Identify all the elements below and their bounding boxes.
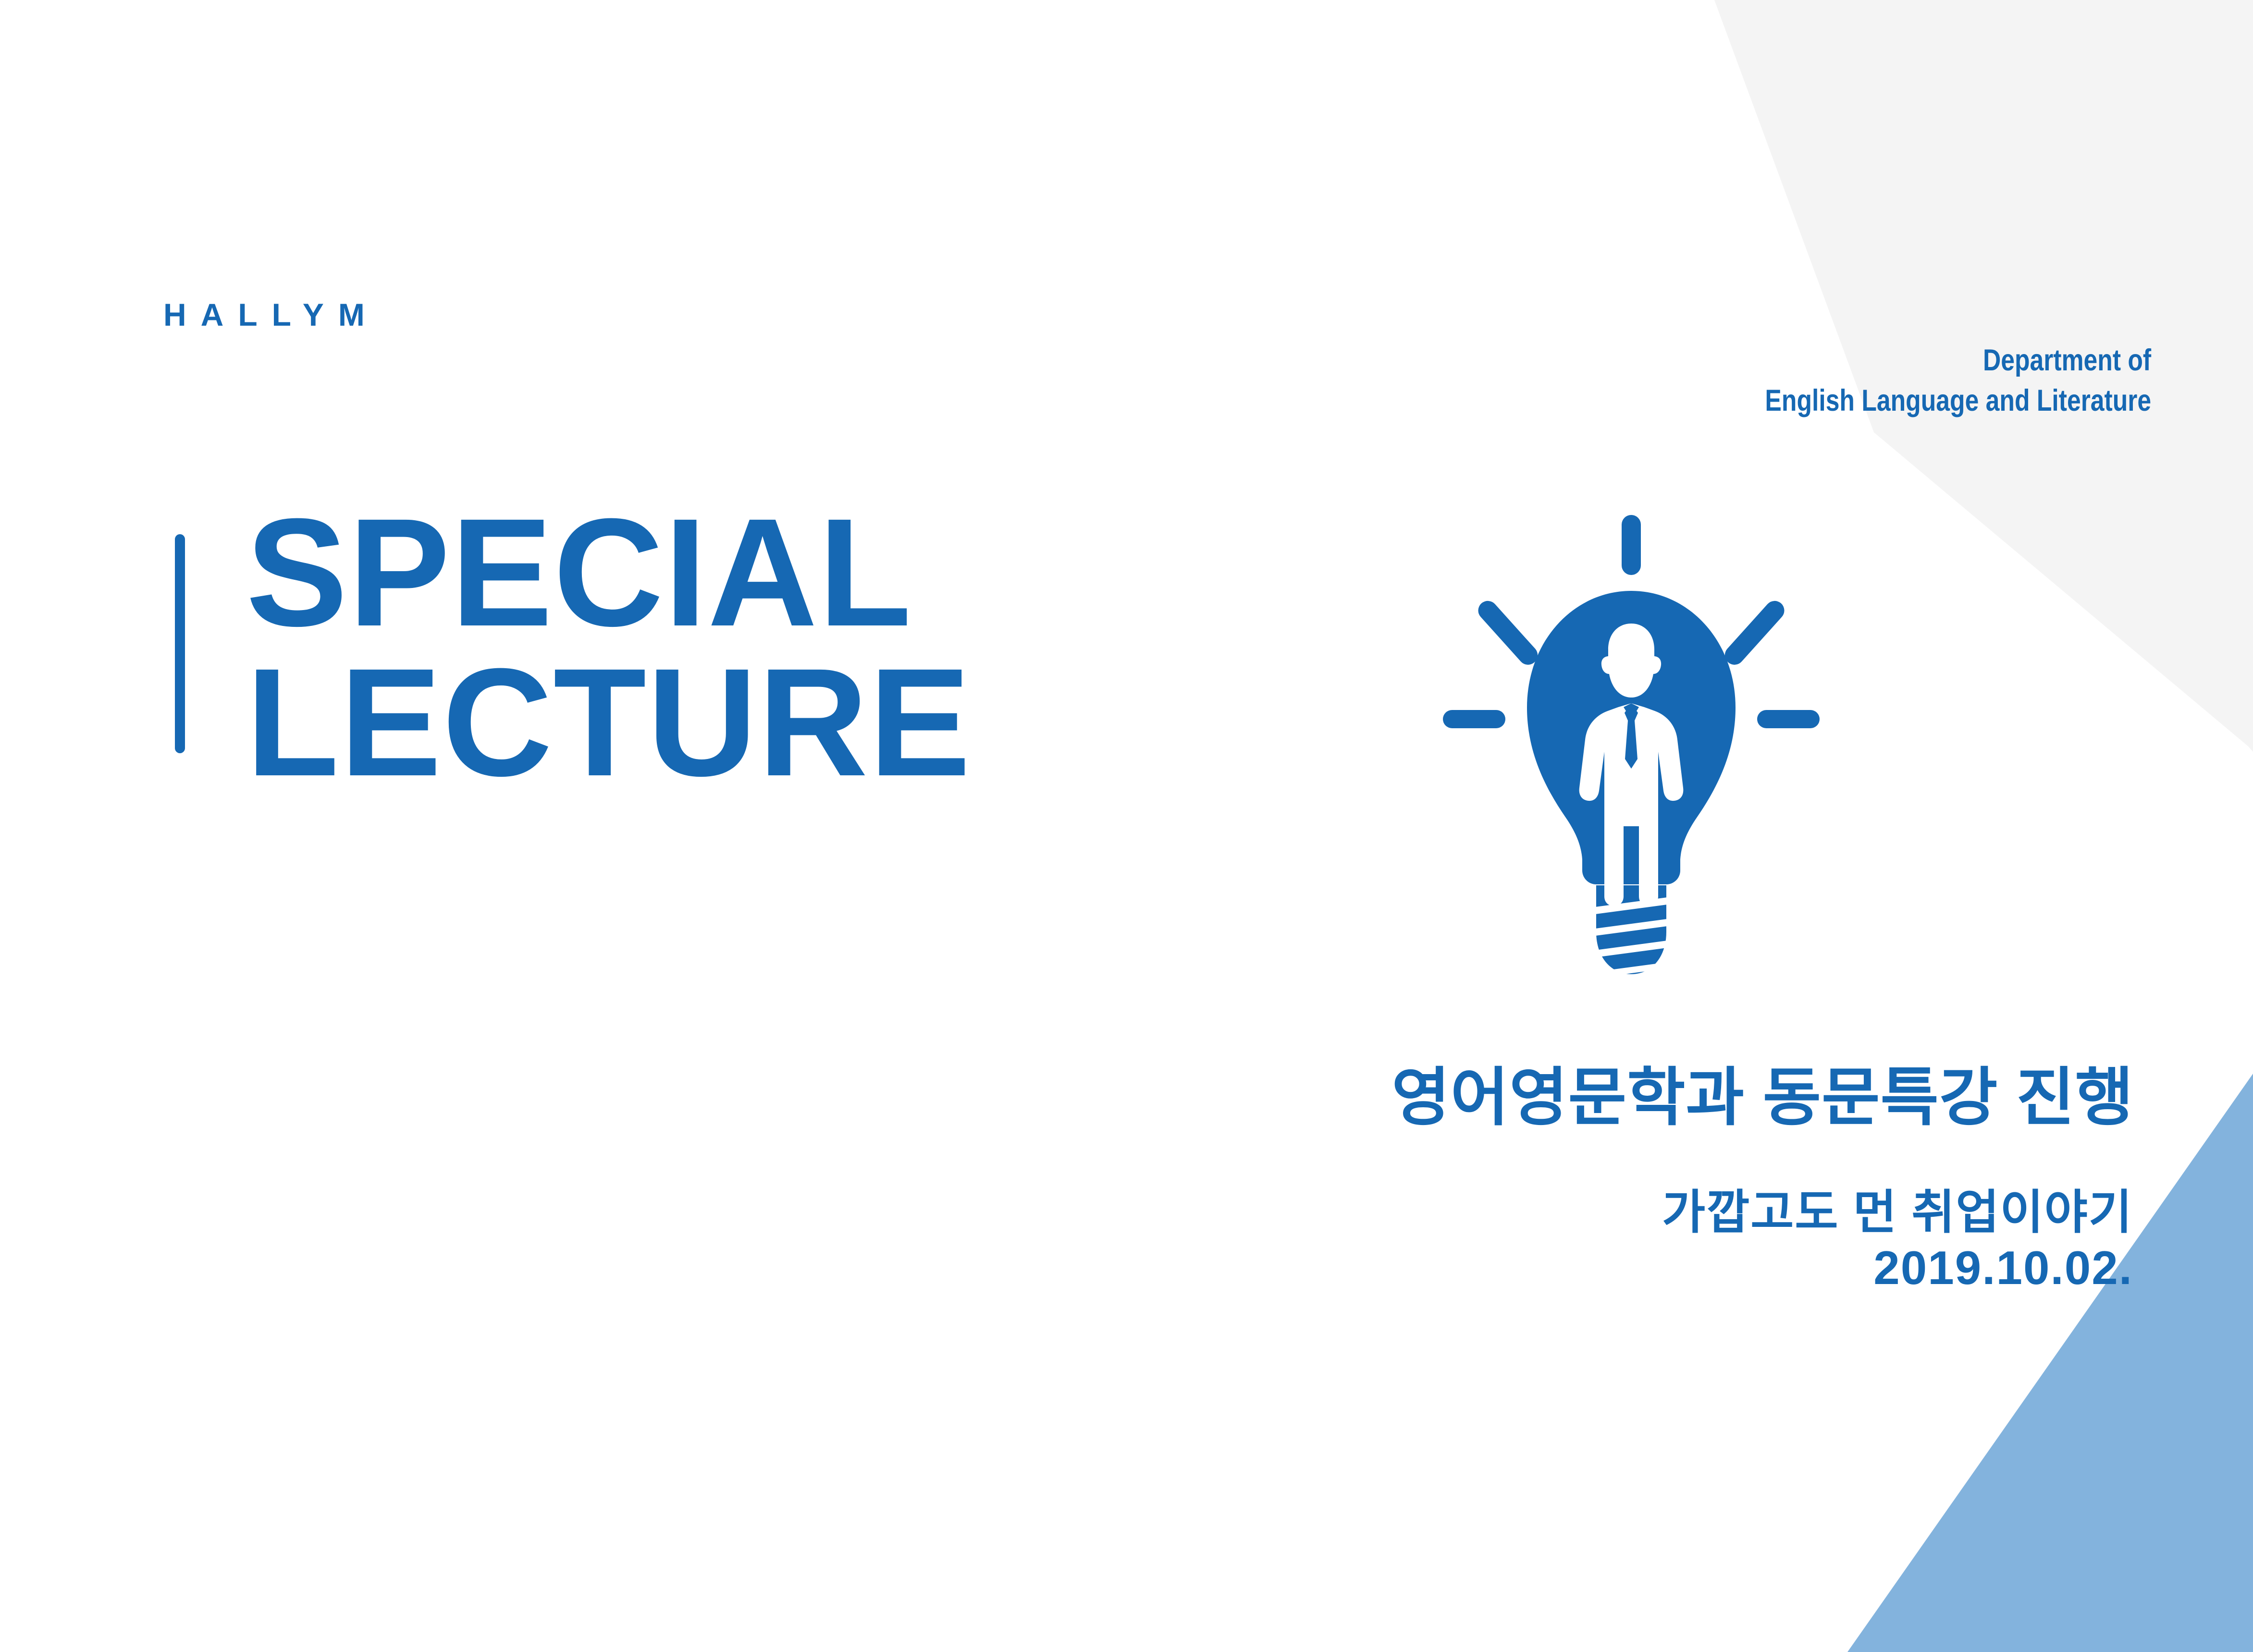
ray-left-icon — [1443, 710, 1505, 728]
title-line-1: SPECIAL — [246, 497, 972, 647]
department-line-2: English Language and Literature — [1765, 380, 2151, 421]
korean-headline: 영어영문학과 동문특강 진행 — [1391, 1063, 2134, 1132]
background-shapes — [0, 0, 2253, 1652]
bulb-neck-icon — [1582, 859, 1680, 884]
title-accent-bar — [175, 534, 185, 753]
ray-top-icon — [1622, 515, 1641, 575]
hallym-wordmark: HALLYM — [163, 299, 379, 330]
title-line-2: LECTURE — [246, 647, 972, 797]
light-blue-corner-triangle — [1847, 1074, 2253, 1652]
department-line-1: Department of — [1765, 340, 2151, 380]
korean-subtitle: 가깝고도 먼 취업이야기 — [1662, 1185, 2133, 1240]
lightbulb-with-businessman-icon — [1429, 509, 1833, 980]
lecture-date: 2019.10.02. — [1662, 1240, 2133, 1296]
department-block: Department of English Language and Liter… — [1765, 340, 2151, 421]
poster-canvas: HALLYM Department of English Language an… — [0, 0, 2253, 1652]
bulb-screw-base-icon — [1588, 885, 1674, 980]
page-title: SPECIAL LECTURE — [246, 497, 979, 797]
ray-right-icon — [1757, 710, 1820, 728]
korean-subtitle-block: 가깝고도 먼 취업이야기 2019.10.02. — [1662, 1185, 2133, 1296]
ray-upper-left-icon — [1474, 597, 1541, 669]
ray-upper-right-icon — [1721, 597, 1788, 669]
